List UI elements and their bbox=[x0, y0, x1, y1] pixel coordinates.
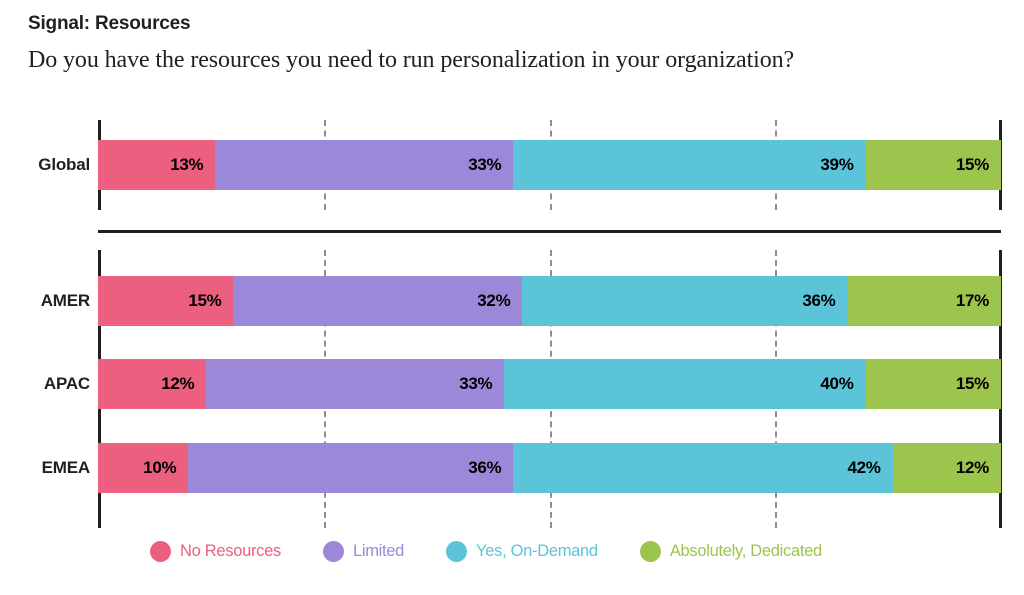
bar-segment-value: 10% bbox=[143, 458, 176, 478]
bar-segment-value: 15% bbox=[956, 374, 989, 394]
bar-segment-value: 39% bbox=[820, 155, 853, 175]
stacked-bar-track: 12%33%40%15% bbox=[98, 359, 1001, 409]
bar-segment-value: 32% bbox=[477, 291, 510, 311]
stacked-bar-track: 15%32%36%17% bbox=[98, 276, 1001, 326]
chart-header: Signal: Resources Do you have the resour… bbox=[28, 14, 998, 74]
bar-segment[interactable]: 42% bbox=[513, 443, 892, 493]
category-label-amer: AMER bbox=[8, 276, 90, 326]
stacked-bar-track: 10%36%42%12% bbox=[98, 443, 1001, 493]
chart-question-subtitle: Do you have the resources you need to ru… bbox=[28, 47, 998, 75]
page-title: Signal: Resources bbox=[28, 14, 998, 35]
bar-segment-value: 12% bbox=[161, 374, 194, 394]
legend-item[interactable]: No Resources bbox=[150, 541, 281, 562]
bar-segment-value: 33% bbox=[459, 374, 492, 394]
bar-segment[interactable]: 17% bbox=[847, 276, 1001, 326]
bar-segment[interactable]: 40% bbox=[504, 359, 865, 409]
legend-swatch-icon bbox=[150, 541, 171, 562]
legend-label: Absolutely, Dedicated bbox=[670, 542, 822, 561]
chart-legend: No ResourcesLimitedYes, On-DemandAbsolut… bbox=[150, 541, 822, 562]
bar-segment-value: 42% bbox=[848, 458, 881, 478]
bar-segment-value: 17% bbox=[956, 291, 989, 311]
category-label-emea: EMEA bbox=[8, 443, 90, 493]
panel-divider bbox=[98, 230, 1001, 233]
bar-segment[interactable]: 33% bbox=[215, 140, 513, 190]
legend-label: Yes, On-Demand bbox=[476, 542, 598, 561]
bar-segment[interactable]: 12% bbox=[98, 359, 206, 409]
bar-segment[interactable]: 32% bbox=[233, 276, 522, 326]
bar-segment[interactable]: 39% bbox=[513, 140, 865, 190]
bar-row: AMER15%32%36%17% bbox=[0, 276, 1024, 326]
bar-segment-value: 36% bbox=[468, 458, 501, 478]
legend-item[interactable]: Limited bbox=[323, 541, 404, 562]
category-label-global: Global bbox=[8, 140, 90, 190]
legend-item[interactable]: Absolutely, Dedicated bbox=[640, 541, 822, 562]
bar-row: EMEA10%36%42%12% bbox=[0, 443, 1024, 493]
bar-segment-value: 33% bbox=[468, 155, 501, 175]
legend-swatch-icon bbox=[446, 541, 467, 562]
bar-segment-value: 36% bbox=[802, 291, 835, 311]
bar-segment[interactable]: 15% bbox=[98, 276, 233, 326]
bar-segment[interactable]: 10% bbox=[98, 443, 188, 493]
legend-label: No Resources bbox=[180, 542, 281, 561]
bar-segment[interactable]: 36% bbox=[188, 443, 513, 493]
legend-swatch-icon bbox=[640, 541, 661, 562]
bar-segment[interactable]: 15% bbox=[866, 140, 1001, 190]
bar-segment[interactable]: 12% bbox=[893, 443, 1001, 493]
bar-row: APAC12%33%40%15% bbox=[0, 359, 1024, 409]
category-label-apac: APAC bbox=[8, 359, 90, 409]
bar-segment-value: 15% bbox=[956, 155, 989, 175]
bar-segment-value: 12% bbox=[956, 458, 989, 478]
stacked-bar-track: 13%33%39%15% bbox=[98, 140, 1001, 190]
bar-segment-value: 13% bbox=[170, 155, 203, 175]
bar-segment-value: 15% bbox=[188, 291, 221, 311]
legend-item[interactable]: Yes, On-Demand bbox=[446, 541, 598, 562]
bar-segment[interactable]: 33% bbox=[206, 359, 504, 409]
bar-segment[interactable]: 15% bbox=[866, 359, 1001, 409]
bar-segment[interactable]: 13% bbox=[98, 140, 215, 190]
bar-row: Global13%33%39%15% bbox=[0, 140, 1024, 190]
legend-label: Limited bbox=[353, 542, 404, 561]
bar-segment[interactable]: 36% bbox=[522, 276, 847, 326]
bar-segment-value: 40% bbox=[820, 374, 853, 394]
legend-swatch-icon bbox=[323, 541, 344, 562]
